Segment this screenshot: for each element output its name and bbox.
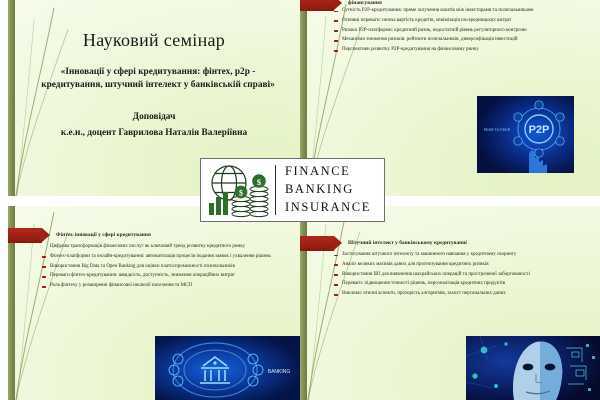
heading-banner-arrow [300, 236, 334, 251]
list-item: Переваги фінтех-кредитування: швидкість,… [42, 273, 290, 280]
list-item: Механізми зниження ризиків: рейтинги поз… [334, 37, 590, 44]
list-item: Основні переваги: нижча вартість кредиті… [334, 18, 590, 25]
bullet-marker [334, 284, 338, 286]
slide-fintech[interactable]: Фінтех-інновації у сфері кредитування Ци… [8, 206, 300, 400]
list-item: Використання ШІ для виявлення шахрайськи… [334, 272, 590, 279]
digital-banking-image: BANKING [155, 336, 300, 400]
bullet-marker [334, 274, 338, 276]
svg-text:P2P: P2P [529, 124, 550, 136]
bullet-marker [42, 286, 46, 288]
list-item: Виклики: етичні аспекти, прозорість алго… [334, 291, 590, 298]
slide-ai[interactable]: Штучний інтелект у банківському кредитув… [300, 206, 600, 400]
p2p-network-image: P2P PEER TO PEER [477, 96, 574, 173]
logo-mark: $ $ [201, 159, 275, 221]
list-item: Застосування штучного інтелекту та машин… [334, 252, 590, 259]
bullet-marker [334, 30, 338, 32]
heading-banner-arrow [8, 228, 42, 243]
list-item: Фінтех-платформи та онлайн-кредитування:… [42, 254, 290, 261]
page-title: Науковий семінар [8, 30, 300, 51]
lead-paragraph: Цифрова трансформація фінансових послуг … [50, 244, 290, 251]
svg-text:$: $ [239, 189, 243, 198]
list-item: Переваги: підвищення точності рішень, пе… [334, 281, 590, 288]
logo-line-banking: BANKING [285, 181, 384, 199]
logo-divider [275, 165, 276, 215]
bullet-marker [334, 40, 338, 42]
speaker-role: Доповідач [8, 112, 300, 122]
bar-chart-icon [209, 192, 228, 215]
speaker-name: к.е.н., доцент Гаврилова Наталія Валерії… [8, 128, 300, 138]
bullet-marker [334, 50, 338, 52]
list-item: Аналіз великих масивів даних для прогноз… [334, 262, 590, 269]
list-item: Ризики P2P-платформи: кредитний ризик, н… [334, 28, 590, 35]
slide-heading: Фінтех-інновації у сфері кредитування [56, 233, 151, 239]
bullet-marker [334, 11, 338, 13]
bullet-marker [334, 20, 338, 22]
logo-line-insurance: INSURANCE [285, 199, 384, 217]
heading-banner-arrow [300, 0, 334, 11]
bullet-marker [42, 276, 46, 278]
slide-heading: фінансування [348, 1, 382, 7]
list-item: Сутність P2P-кредитування: пряме залучен… [334, 8, 590, 15]
coin-stack-icon: $ [232, 186, 250, 217]
bullet-marker [42, 266, 46, 268]
bullet-marker [334, 255, 338, 257]
bullet-marker [334, 264, 338, 266]
list-item: Перспективи розвитку P2P-кредитування на… [334, 47, 590, 54]
bullet-marker [334, 294, 338, 296]
slide-heading: Штучний інтелект у банківському кредитув… [348, 241, 467, 247]
list-item: Використання Big Data та Open Banking дл… [42, 264, 290, 271]
slide-deck: Науковий семінар «Інновації у сфері кред… [0, 0, 600, 400]
seminar-subtitle: «Інновації у сфері кредитування: фінтех,… [32, 66, 284, 92]
svg-text:BANKING: BANKING [268, 369, 291, 375]
svg-text:PEER TO PEER: PEER TO PEER [484, 128, 511, 132]
ai-face-image [466, 336, 600, 400]
finance-banking-insurance-logo: $ $ FINANCE BANKIN [200, 158, 385, 222]
coin-stack-icon-2: $ [250, 174, 268, 216]
logo-line-finance: FINANCE [285, 163, 384, 181]
list-item: Роль фінтеху у розширенні фінансової інк… [42, 283, 290, 290]
bullet-marker [42, 256, 46, 258]
logo-wordmark: FINANCE BANKING INSURANCE [281, 163, 384, 216]
